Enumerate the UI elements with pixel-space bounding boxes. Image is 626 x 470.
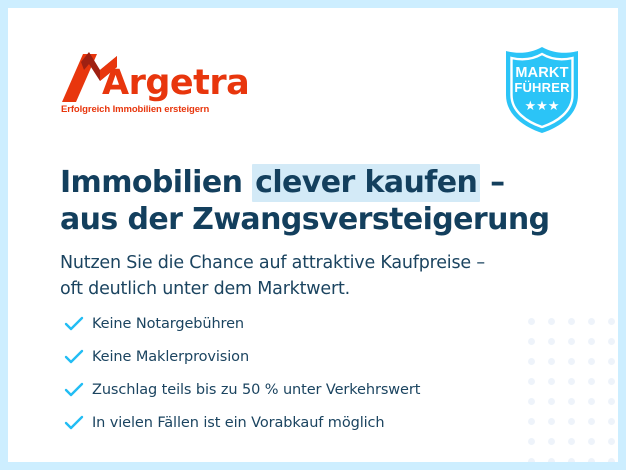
decorative-dot: [528, 458, 535, 462]
decorative-dot: [608, 458, 615, 462]
argetra-logo[interactable]: Argetra Erfolgreich Immobilien ersteiger…: [60, 50, 260, 120]
decorative-dot: [608, 438, 615, 445]
logo-tagline: Erfolgreich Immobilien ersteigern: [61, 104, 209, 115]
decorative-dot: [608, 358, 615, 365]
list-item-label: Zuschlag teils bis zu 50 % unter Verkehr…: [92, 382, 420, 398]
promo-banner: Argetra Erfolgreich Immobilien ersteiger…: [0, 0, 626, 470]
headline-highlight: clever kaufen: [252, 164, 480, 202]
headline-line-1: Immobilien clever kaufen –: [60, 165, 580, 202]
decorative-dot: [608, 338, 615, 345]
list-item: In vielen Fällen ist ein Vorabkauf mögli…: [64, 406, 584, 439]
check-icon: [64, 415, 92, 431]
subheading-line-1: Nutzen Sie die Chance auf attraktive Kau…: [60, 250, 580, 276]
subheading: Nutzen Sie die Chance auf attraktive Kau…: [60, 250, 580, 303]
list-item: Keine Notargebühren: [64, 307, 584, 340]
subheading-line-2: oft deutlich unter dem Marktwert.: [60, 276, 580, 302]
decorative-dot: [588, 398, 595, 405]
list-item-label: In vielen Fällen ist ein Vorabkauf mögli…: [92, 415, 385, 431]
shield-icon: [500, 45, 584, 135]
page-title: Immobilien clever kaufen – aus der Zwang…: [60, 165, 580, 238]
marktfuehrer-badge: MARKT FÜHRER ★★★: [500, 45, 584, 135]
decorative-dot: [548, 458, 555, 462]
decorative-dot: [588, 438, 595, 445]
list-item: Keine Maklerprovision: [64, 340, 584, 373]
decorative-dot: [608, 418, 615, 425]
headline-post: –: [480, 165, 504, 200]
check-icon: [64, 349, 92, 365]
check-icon: [64, 316, 92, 332]
headline-pre: Immobilien: [60, 165, 252, 200]
decorative-dot: [588, 418, 595, 425]
decorative-dot: [608, 398, 615, 405]
list-item-label: Keine Notargebühren: [92, 316, 244, 332]
banner-card: Argetra Erfolgreich Immobilien ersteiger…: [8, 8, 618, 462]
decorative-dot: [548, 438, 555, 445]
decorative-dot: [528, 438, 535, 445]
list-item-label: Keine Maklerprovision: [92, 349, 249, 365]
decorative-dot: [568, 458, 575, 462]
decorative-dot: [588, 458, 595, 462]
decorative-dot: [608, 318, 615, 325]
logo-wordmark: Argetra: [102, 66, 249, 101]
check-icon: [64, 382, 92, 398]
headline-line-2: aus der Zwangsversteigerung: [60, 202, 580, 239]
decorative-dot: [588, 378, 595, 385]
list-item: Zuschlag teils bis zu 50 % unter Verkehr…: [64, 373, 584, 406]
decorative-dot: [608, 378, 615, 385]
decorative-dot: [588, 318, 595, 325]
benefits-list: Keine NotargebührenKeine Maklerprovision…: [64, 307, 584, 439]
decorative-dot: [568, 438, 575, 445]
decorative-dot: [588, 338, 595, 345]
decorative-dot: [588, 358, 595, 365]
